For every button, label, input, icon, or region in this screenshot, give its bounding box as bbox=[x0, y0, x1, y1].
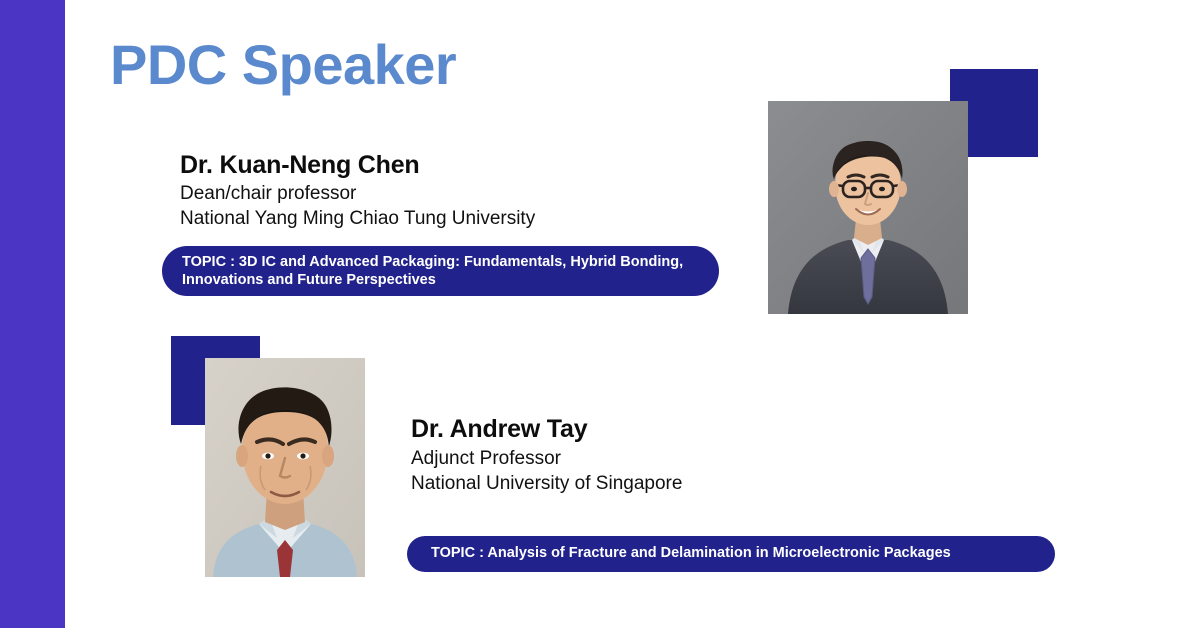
portrait-illustration-1 bbox=[768, 101, 968, 314]
left-accent-bar bbox=[0, 0, 65, 628]
speaker-2-name: Dr. Andrew Tay bbox=[411, 415, 587, 444]
speaker-1-affiliation: National Yang Ming Chiao Tung University bbox=[180, 208, 535, 230]
speaker-1-name: Dr. Kuan-Neng Chen bbox=[180, 151, 419, 180]
speaker-2-photo bbox=[205, 358, 365, 577]
speaker-2-role: Adjunct Professor bbox=[411, 448, 561, 470]
speaker-2-affiliation: National University of Singapore bbox=[411, 473, 682, 495]
speaker-2-topic-pill: TOPIC : Analysis of Fracture and Delamin… bbox=[407, 536, 1055, 572]
speaker-1-topic-pill: TOPIC : 3D IC and Advanced Packaging: Fu… bbox=[162, 246, 719, 296]
portrait-illustration-2 bbox=[205, 358, 365, 577]
page-title: PDC Speaker bbox=[110, 36, 456, 95]
speaker-1-role: Dean/chair professor bbox=[180, 183, 356, 205]
speaker-1-topic-text: TOPIC : 3D IC and Advanced Packaging: Fu… bbox=[182, 253, 699, 289]
speaker-2-topic-text: TOPIC : Analysis of Fracture and Delamin… bbox=[431, 545, 951, 562]
pdc-speaker-slide: PDC Speaker bbox=[0, 0, 1200, 628]
speaker-1-photo bbox=[768, 101, 968, 314]
